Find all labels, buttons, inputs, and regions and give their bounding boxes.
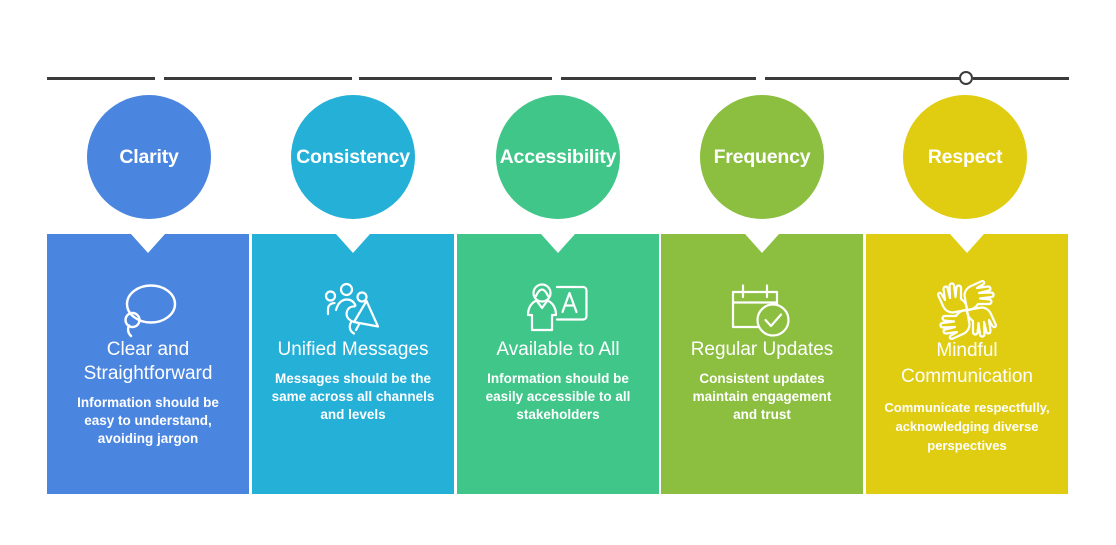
panel-notch [541, 234, 575, 253]
panel-description: Information should be easily accessible … [465, 370, 651, 424]
panel-description: Communicate respectfully, acknowledging … [874, 398, 1060, 455]
joined-hands-icon [866, 280, 1068, 340]
panel-title: Available to All [465, 338, 651, 362]
panel-description: Consistent updates maintain engagement a… [669, 370, 855, 424]
panel-title: Mindful Communication [874, 338, 1060, 390]
panel-title: Regular Updates [669, 338, 855, 362]
step-circle-label: Frequency [714, 146, 811, 169]
panel-title: Unified Messages [260, 338, 446, 362]
timeline-segment-2 [164, 77, 352, 80]
panel-title: Clear and Straightforward [55, 338, 241, 386]
step-circle-accessibility[interactable]: Accessibility [496, 95, 620, 219]
panel-notch [950, 234, 984, 253]
timeline-segment-3 [359, 77, 552, 80]
step-panel-respect[interactable]: Mindful Communication Communicate respec… [866, 234, 1068, 494]
step-panel-accessibility[interactable]: Available to All Information should be e… [457, 234, 659, 494]
megaphone-people-icon [252, 280, 454, 340]
speech-bubble-icon [47, 280, 249, 340]
panel-description: Information should be easy to understand… [55, 394, 241, 448]
panel-description: Messages should be the same across all c… [260, 370, 446, 424]
panel-text-block: Available to All Information should be e… [465, 338, 651, 424]
panel-notch [745, 234, 779, 253]
step-circle-frequency[interactable]: Frequency [700, 95, 824, 219]
step-circle-label: Consistency [296, 146, 410, 169]
panel-notch [131, 234, 165, 253]
timeline-segment-4 [561, 77, 756, 80]
timeline [47, 70, 1069, 86]
step-panel-consistency[interactable]: Unified Messages Messages should be the … [252, 234, 454, 494]
step-circle-clarity[interactable]: Clarity [87, 95, 211, 219]
calendar-check-icon [661, 280, 863, 340]
panel-text-block: Clear and Straightforward Information sh… [55, 338, 241, 448]
panel-text-block: Regular Updates Consistent updates maint… [669, 338, 855, 424]
step-circle-label: Clarity [119, 146, 178, 169]
circle-marker-icon[interactable] [959, 71, 973, 85]
timeline-segment-1 [47, 77, 155, 80]
timeline-segment-5 [765, 77, 960, 80]
step-panel-frequency[interactable]: Regular Updates Consistent updates maint… [661, 234, 863, 494]
step-circle-label: Accessibility [500, 146, 617, 169]
step-circle-respect[interactable]: Respect [903, 95, 1027, 219]
panel-text-block: Unified Messages Messages should be the … [260, 338, 446, 424]
step-circle-consistency[interactable]: Consistency [291, 95, 415, 219]
panel-text-block: Mindful Communication Communicate respec… [874, 338, 1060, 455]
step-circle-label: Respect [928, 146, 1002, 169]
timeline-segment-6 [973, 77, 1069, 80]
step-panel-clarity[interactable]: Clear and Straightforward Information sh… [47, 234, 249, 494]
presenter-board-icon [457, 280, 659, 340]
panel-notch [336, 234, 370, 253]
infographic-canvas: Clarity Consistency Accessibility Freque… [0, 0, 1116, 545]
